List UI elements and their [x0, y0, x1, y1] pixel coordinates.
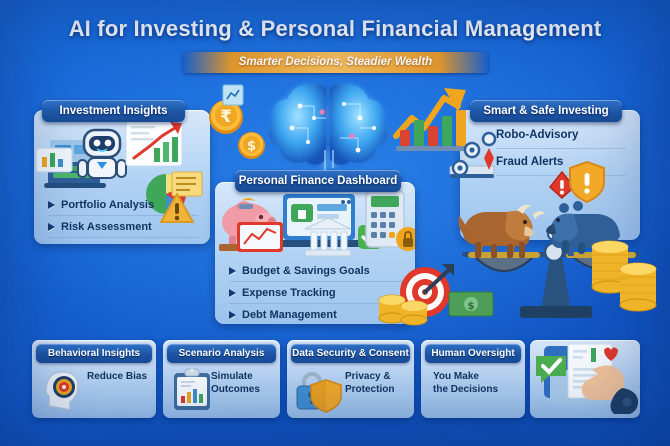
- card-text-line: the Decisions: [433, 383, 521, 396]
- panel-header-smart-safe-investing: Smart & Safe Investing: [470, 100, 622, 122]
- subtitle-banner: Smarter Decisions, Steadier Wealth: [183, 52, 488, 73]
- row-robo-advisory[interactable]: Robo-Advisory: [496, 122, 626, 149]
- card-title: Data Security & Consent: [292, 348, 409, 359]
- shield-warning-icon: [568, 160, 606, 204]
- card-text: Reduce Bias: [87, 370, 149, 383]
- bullet-label: Expense Tracking: [242, 287, 336, 299]
- bullet-label: Budget & Savings Goals: [242, 265, 370, 277]
- lock-shield-icon: [295, 368, 339, 412]
- coin-stack-icon: [378, 280, 430, 328]
- card-text: Privacy & Protection: [345, 370, 407, 396]
- robot-arm-icon: [448, 126, 510, 182]
- card-human-oversight[interactable]: Human Oversight You Make the Decisions: [421, 340, 525, 418]
- card-header: Human Oversight: [425, 344, 521, 363]
- card-text-line: Outcomes: [211, 383, 273, 396]
- triangle-bullet-icon: [48, 223, 55, 231]
- card-text-line: Simulate: [211, 370, 273, 383]
- chart-card-icon: [222, 84, 244, 106]
- panel-title: Investment Insights: [60, 105, 168, 117]
- card-header: Behavioral Insights: [36, 344, 152, 363]
- banknote-icon: $: [448, 288, 496, 320]
- bank-building-icon: [303, 216, 353, 258]
- lock-icon: [395, 226, 415, 252]
- bullet-budget-savings-goals[interactable]: Budget & Savings Goals: [229, 260, 405, 282]
- svg-text:₹: ₹: [220, 107, 232, 127]
- robot-icon: [76, 124, 128, 186]
- bullet-label: Portfolio Analysis: [61, 199, 154, 211]
- triangle-bullet-icon: [229, 267, 236, 275]
- svg-text:$: $: [247, 139, 256, 154]
- card-data-security-consent[interactable]: Data Security & Consent Privacy & Protec…: [287, 340, 414, 418]
- bullet-label: Debt Management: [242, 309, 337, 321]
- card-header: Data Security & Consent: [291, 344, 410, 363]
- svg-text:$: $: [468, 301, 475, 312]
- card-text: You Make the Decisions: [433, 370, 521, 396]
- bullet-label: Risk Assessment: [61, 221, 152, 233]
- card-text-line: You Make: [433, 370, 521, 383]
- dollar-coin-icon: $: [236, 130, 267, 161]
- card-scenario-analysis[interactable]: Scenario Analysis Simulate Outcomes: [163, 340, 280, 418]
- bull-icon: [455, 190, 541, 262]
- expense-chart-icon: [237, 222, 285, 254]
- right-panel-rows: Robo-Advisory Fraud Alerts: [496, 122, 626, 176]
- card-text-line: Protection: [345, 383, 407, 396]
- card-title: Human Oversight: [431, 348, 514, 359]
- card-title: Behavioral Insights: [48, 348, 140, 359]
- subtitle-text: Smarter Decisions, Steadier Wealth: [183, 52, 488, 73]
- warning-triangle-icon: [160, 192, 196, 226]
- ai-brain-icon: [248, 78, 408, 174]
- clipboard-chart-icon: [171, 368, 215, 412]
- coin-stack-icon: [588, 225, 660, 315]
- panel-header-investment-insights: Investment Insights: [42, 100, 185, 122]
- panel-title: Smart & Safe Investing: [483, 105, 608, 117]
- infographic-poster: AI for Investing & Personal Financial Ma…: [0, 0, 670, 446]
- bar-chart-icon: [36, 148, 72, 172]
- panel-title: Personal Finance Dashboard: [239, 175, 398, 187]
- card-text-line: Reduce Bias: [87, 370, 149, 383]
- page-title: AI for Investing & Personal Financial Ma…: [0, 16, 670, 42]
- card-text: Simulate Outcomes: [211, 370, 273, 396]
- head-target-icon: [40, 368, 84, 412]
- card-behavioral-insights[interactable]: Behavioral Insights Reduce Bias: [32, 340, 156, 418]
- panel-investment-insights: Portfolio Analysis Risk Assessment: [34, 110, 210, 244]
- card-title: Scenario Analysis: [179, 348, 265, 359]
- card-header: Scenario Analysis: [167, 344, 276, 363]
- approval-hand-icon: [530, 340, 640, 418]
- card-approval-illustration[interactable]: [530, 340, 640, 418]
- triangle-bullet-icon: [229, 289, 236, 297]
- card-text-line: Privacy &: [345, 370, 407, 383]
- triangle-bullet-icon: [48, 201, 55, 209]
- panel-header-personal-finance-dashboard: Personal Finance Dashboard: [235, 170, 401, 192]
- triangle-bullet-icon: [229, 311, 236, 319]
